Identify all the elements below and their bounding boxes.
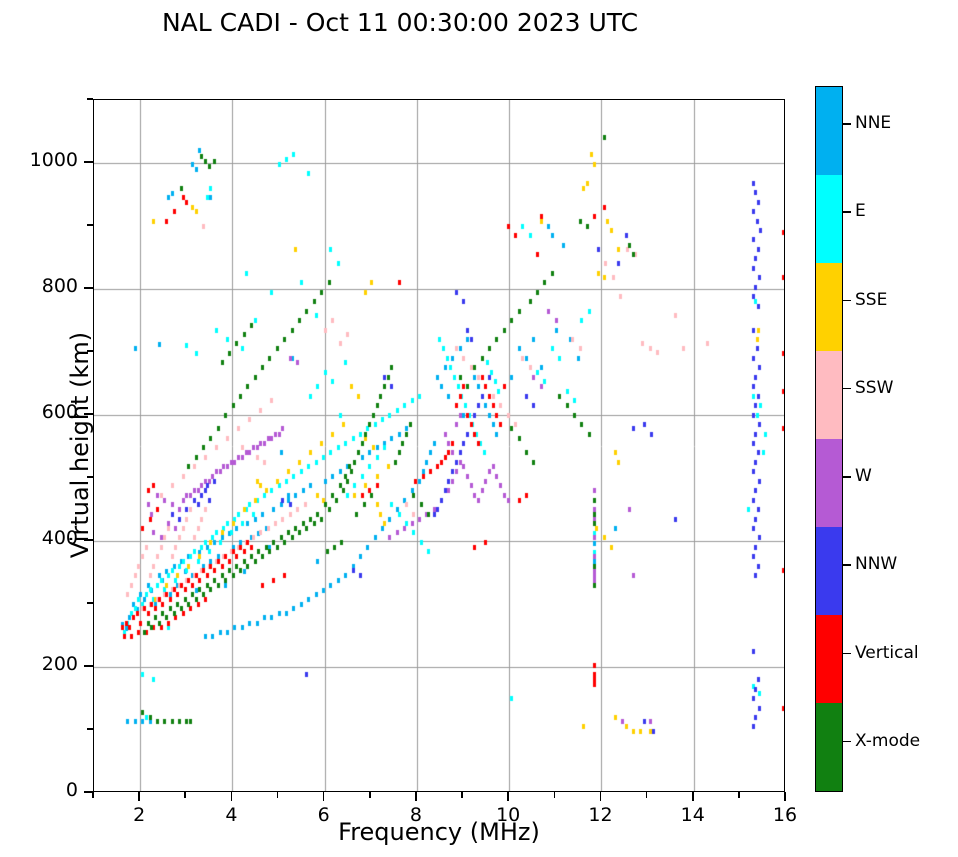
colorbar-tickmark (843, 211, 851, 213)
colorbar-label-sse: SSE (855, 290, 887, 310)
colorbar-segment-w[interactable] (816, 439, 842, 527)
colorbar-tickmark (843, 388, 851, 390)
x-minor-tickmark (369, 792, 371, 798)
colorbar[interactable] (815, 86, 843, 792)
x-tickmark (323, 792, 325, 801)
colorbar-label-x-mode: X-mode (855, 731, 920, 751)
colorbar-segment-e[interactable] (816, 175, 842, 263)
y-tickmark (84, 665, 93, 667)
x-tickmark (600, 792, 602, 801)
x-tickmark (415, 792, 417, 801)
colorbar-tickmark (843, 564, 851, 566)
colorbar-segment-nne[interactable] (816, 87, 842, 175)
x-tickmark (231, 792, 233, 801)
x-minor-tickmark (92, 792, 94, 798)
x-tickmark (784, 792, 786, 801)
colorbar-tickmark (843, 123, 851, 125)
x-tickmark (138, 792, 140, 801)
colorbar-label-w: W (855, 466, 872, 486)
colorbar-segment-ssw[interactable] (816, 351, 842, 439)
colorbar-segment-nnw[interactable] (816, 527, 842, 615)
page-title: NAL CADI - Oct 11 00:30:00 2023 UTC (0, 8, 800, 37)
colorbar-tickmark (843, 476, 851, 478)
y-minor-tickmark (87, 728, 93, 730)
colorbar-tickmark (843, 653, 851, 655)
x-minor-tickmark (461, 792, 463, 798)
y-tickmark (84, 161, 93, 163)
x-minor-tickmark (554, 792, 556, 798)
colorbar-segment-x-mode[interactable] (816, 703, 842, 791)
y-tick-label: 0 (20, 779, 78, 801)
colorbar-segment-sse[interactable] (816, 263, 842, 351)
ionogram-data-points (94, 100, 785, 792)
y-minor-tickmark (87, 224, 93, 226)
colorbar-label-nne: NNE (855, 113, 891, 133)
colorbar-segment-vertical[interactable] (816, 615, 842, 703)
colorbar-label-e: E (855, 201, 866, 221)
colorbar-label-vertical: Vertical (855, 643, 919, 663)
y-tick-label: 200 (20, 653, 78, 675)
x-minor-tickmark (646, 792, 648, 798)
colorbar-tickmark (843, 741, 851, 743)
y-minor-tickmark (87, 98, 93, 100)
y-tick-label: 1000 (20, 149, 78, 171)
x-tickmark (507, 792, 509, 801)
colorbar-tickmark (843, 300, 851, 302)
x-tickmark (692, 792, 694, 801)
x-minor-tickmark (738, 792, 740, 798)
plot-area[interactable] (93, 99, 785, 792)
colorbar-label-nnw: NNW (855, 554, 897, 574)
x-axis-label: Frequency (MHz) (93, 818, 785, 846)
ionogram-figure: NAL CADI - Oct 11 00:30:00 2023 UTC 0200… (0, 0, 958, 857)
y-axis-label: Virtual height (km) (66, 245, 94, 645)
x-minor-tickmark (277, 792, 279, 798)
x-minor-tickmark (184, 792, 186, 798)
colorbar-label-ssw: SSW (855, 378, 893, 398)
